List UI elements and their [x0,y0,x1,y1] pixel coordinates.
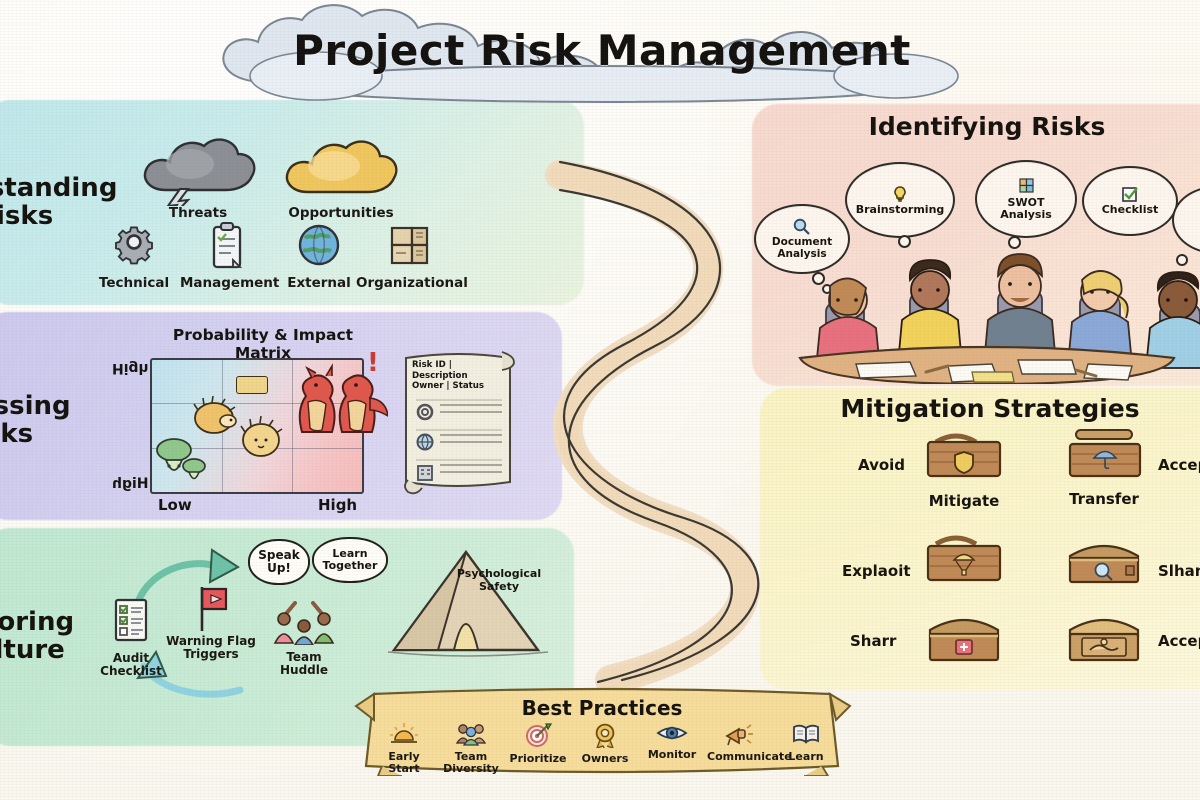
bp-learn: Learn [774,722,838,763]
matrix-x-right-label: High [318,496,357,514]
mushroom-icon [154,432,208,488]
label-accept-bottom: Accept [1158,632,1200,650]
toolbox-shield-icon [918,424,1010,486]
understanding-threats: Threats [138,132,258,221]
category-technical: Technical [96,222,172,291]
eye-icon [656,722,688,744]
red-flag-icon [163,583,259,639]
team-huddle-label: Team Huddle [262,651,346,678]
risk-register-scroll: Risk ID | Description Owner | Status [398,344,522,496]
bp-monitor: Monitor [640,722,704,761]
chest-enhance [1058,528,1150,594]
page-title: Project Risk Management [196,26,1008,75]
register-header: Risk ID | Description Owner | Status [412,360,504,392]
toolbox-mitigate: Mitigate [918,424,1010,510]
speech-bubble-speak-up: Speak Up! [248,539,310,585]
title-cloud-banner: Project Risk Management [196,4,1008,104]
best-practices-items: Early Start Team Diversity [372,722,838,776]
globe-icon [415,432,435,452]
checklist-icon [92,596,170,646]
toolbox-parachute-icon [918,528,1010,590]
matrix-y-top-label: High [112,360,149,376]
category-organizational: Organizational [356,220,460,291]
globe-icon [282,220,356,270]
category-management: Management [180,220,274,291]
winding-road-path [520,150,780,710]
heading-identifying-risks: Identifying Risks [752,112,1200,141]
register-row-text [440,464,502,478]
label-transfer: Transfer [1058,490,1150,508]
target-dart-icon [524,722,552,748]
bp-owners: Owners [573,722,637,765]
bubble-swot-analysis: SWOT Analysis [975,160,1077,238]
organizational-label: Organizational [356,276,460,291]
exclamation-icon: ! [367,348,379,378]
probability-impact-matrix [150,358,360,490]
tent-label: Psychological Safety [456,568,542,593]
register-header-line2: Owner | Status [412,381,504,392]
category-external: External [282,220,356,291]
megaphone-icon [723,722,755,746]
tent-icon [382,546,552,666]
opportunities-label: Opportunities [278,206,404,221]
heading-mitigation-strategies: Mitigation Strategies [760,394,1200,423]
lightbulb-icon [890,184,910,204]
building-icon [415,462,435,482]
toolbox-transfer: Transfer [1058,420,1150,508]
checkbox-tick-icon [1120,186,1140,204]
gear-icon [96,222,172,270]
open-book-icon [791,722,821,746]
sun-cloud-icon [278,132,404,206]
chest-handshake-icon [1058,608,1150,670]
understanding-opportunities: Opportunities [278,132,404,221]
side-label-assessing-risks: essing isks [0,392,156,448]
gear-icon [415,402,435,422]
storm-cloud-icon [138,132,258,206]
monitoring-audit-checklist: Audit Checklist [92,596,170,679]
threats-label: Threats [138,206,258,221]
psychological-safety-tent: Psychological Safety [382,546,552,670]
monitoring-team-huddle: Team Huddle [262,593,346,678]
register-row-text [440,434,502,448]
best-practices-heading: Best Practices [352,696,852,720]
audit-checklist-label: Audit Checklist [92,652,170,679]
management-label: Management [180,276,274,291]
bp-communicate: Communicate [707,722,771,763]
team-highfive-icon [262,593,346,645]
label-share: Sharr [850,632,896,650]
matrix-x-left-label: Low [158,496,192,514]
label-enhance: Slhanc [1158,562,1200,580]
bubble-brainstorming: Brainstorming [845,162,955,238]
clipboard-icon [180,220,274,270]
chest-accept [1058,608,1150,674]
warning-flag-label: Warning Flag Triggers [163,635,259,662]
bp-prioritize: Prioritize [506,722,570,765]
monitoring-warning-flag: Warning Flag Triggers [163,583,259,662]
matrix-y-bottom-label: High [112,476,149,492]
technical-label: Technical [96,276,172,291]
label-exploit: Explaoit [842,562,911,580]
toolbox-umbrella-icon [1058,420,1150,486]
chest-share [918,608,1010,674]
bubble-checklist: Checklist [1082,166,1178,236]
bp-team-diversity: Team Diversity [439,722,503,776]
bp-early-start: Early Start [372,722,436,776]
swot-grid-icon [1015,177,1037,197]
boxes-icon [356,220,460,270]
speech-bubble-learn-together: Learn Together [312,537,388,583]
sunrise-icon [389,722,419,746]
sticky-note-icon [236,376,268,394]
best-practices-banner: Best Practices Early Start [352,684,852,776]
side-label-line1: essing [0,392,156,420]
label-accept-top: Accept [1158,456,1200,474]
external-label: External [282,276,356,291]
side-label-line2: isks [0,420,156,448]
register-row-text [440,404,502,418]
label-mitigate: Mitigate [918,492,1010,510]
chest-firstaid-icon [918,608,1010,670]
register-header-line1: Risk ID | Description [412,360,504,381]
chest-magnifier-icon [1058,528,1150,590]
toolbox-parachute [918,528,1010,594]
award-ribbon-icon [592,722,618,748]
team-meeting-scene [760,232,1200,388]
people-group-icon [454,722,488,746]
hedgehog-icon [190,396,242,438]
label-avoid: Avoid [858,456,905,474]
